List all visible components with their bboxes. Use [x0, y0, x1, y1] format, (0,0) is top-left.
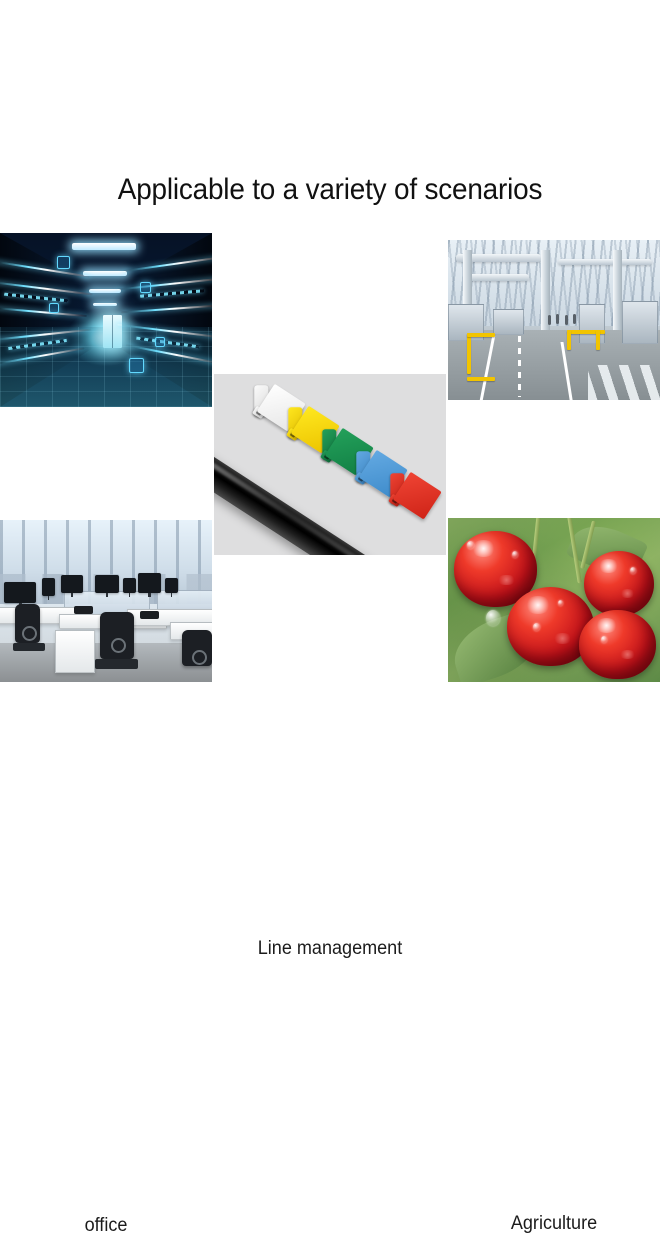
worker-figure [565, 315, 568, 325]
floor-dashed-line [518, 336, 521, 397]
chip-icon [129, 358, 144, 373]
monitor-icon [61, 575, 82, 593]
cable-marker-illustration [214, 374, 446, 555]
safety-railing [567, 330, 571, 351]
office-chair-base [95, 659, 137, 669]
cherry [579, 610, 655, 679]
scenario-caption-line-management: Line management [220, 938, 440, 960]
office-illustration [0, 520, 212, 682]
cherries-illustration [448, 518, 660, 682]
safety-railing [467, 377, 495, 381]
water-droplet [512, 551, 518, 558]
office-chair [100, 612, 134, 659]
scenario-caption-agriculture: Agriculture [453, 1213, 654, 1235]
chip-icon [49, 303, 59, 313]
page-title: Applicable to a variety of scenarios [23, 173, 637, 207]
machine-unit [622, 301, 658, 345]
safety-railing [596, 330, 600, 351]
cherry [584, 551, 654, 617]
cable-tie-marker-red [380, 467, 441, 527]
water-droplet [533, 623, 540, 631]
worker-figure [548, 315, 551, 325]
computer-room-photo [0, 233, 212, 407]
monitor-icon [138, 573, 161, 592]
chip-icon [57, 256, 70, 269]
zebra-crossing [588, 365, 660, 400]
monitor-icon [4, 582, 36, 603]
office-photo [0, 520, 212, 682]
agriculture-photo [448, 518, 660, 682]
desk-phone-icon [140, 611, 159, 619]
factory-photo [448, 240, 660, 400]
chip-icon [140, 282, 151, 293]
monitor-icon [95, 575, 118, 593]
office-chair-base [13, 643, 45, 651]
air-duct [465, 274, 529, 281]
machine-unit [493, 309, 525, 335]
office-chair [182, 630, 212, 666]
monitor-icon [123, 578, 136, 593]
factory-illustration [448, 240, 660, 400]
desk-pedestal [55, 630, 95, 673]
water-droplet [486, 610, 500, 626]
safety-railing [467, 333, 495, 337]
data-center-illustration [0, 233, 212, 407]
machine-unit [579, 304, 604, 344]
scenario-caption-office: office [5, 1215, 206, 1237]
monitor-icon [165, 578, 178, 593]
line-management-photo [214, 374, 446, 555]
air-duct [558, 259, 651, 265]
office-chair [15, 604, 40, 643]
desk-phone-icon [74, 606, 93, 614]
water-droplet [467, 541, 474, 549]
worker-figure [573, 314, 576, 324]
water-droplet [601, 636, 607, 643]
monitor-icon [42, 578, 55, 596]
chip-icon [155, 337, 165, 347]
worker-figure [556, 314, 559, 324]
data-streaks-group [0, 233, 212, 407]
safety-railing [467, 333, 471, 375]
